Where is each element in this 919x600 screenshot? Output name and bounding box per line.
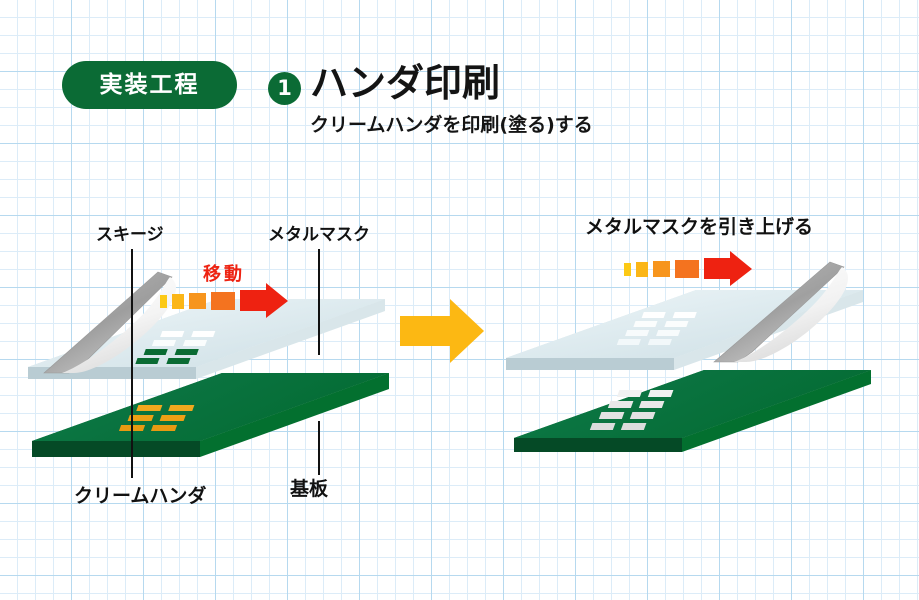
leader-substrate bbox=[318, 421, 320, 475]
pcb-substrate bbox=[514, 370, 871, 452]
diagram-canvas: 実装工程 1 ハンダ印刷 クリームハンダを印刷(塗る)する bbox=[0, 0, 919, 600]
process-badge: 実装工程 bbox=[62, 61, 237, 109]
label-move: 移動 bbox=[203, 266, 245, 284]
leader-cream-solder bbox=[131, 362, 133, 478]
label-squeegee: スキージ bbox=[96, 227, 164, 244]
page-title: ハンダ印刷 bbox=[310, 64, 500, 104]
right-illustration bbox=[500, 240, 900, 530]
step-number-badge: 1 bbox=[268, 72, 301, 105]
step-number-label: 1 bbox=[277, 78, 292, 99]
leader-squeegee bbox=[131, 249, 133, 362]
mask-lift-arrow bbox=[624, 251, 752, 286]
leader-metal-mask bbox=[318, 249, 320, 355]
label-substrate: 基板 bbox=[290, 480, 328, 499]
label-metal-mask: メタルマスク bbox=[268, 227, 370, 244]
process-flow-arrow bbox=[398, 296, 486, 366]
label-cream-solder: クリームハンダ bbox=[74, 487, 206, 506]
page-subtitle: クリームハンダを印刷(塗る)する bbox=[310, 114, 593, 137]
pcb-substrate bbox=[32, 373, 389, 457]
label-lift-metal-mask: メタルマスクを引き上げる bbox=[585, 218, 813, 237]
process-badge-label: 実装工程 bbox=[100, 74, 200, 97]
